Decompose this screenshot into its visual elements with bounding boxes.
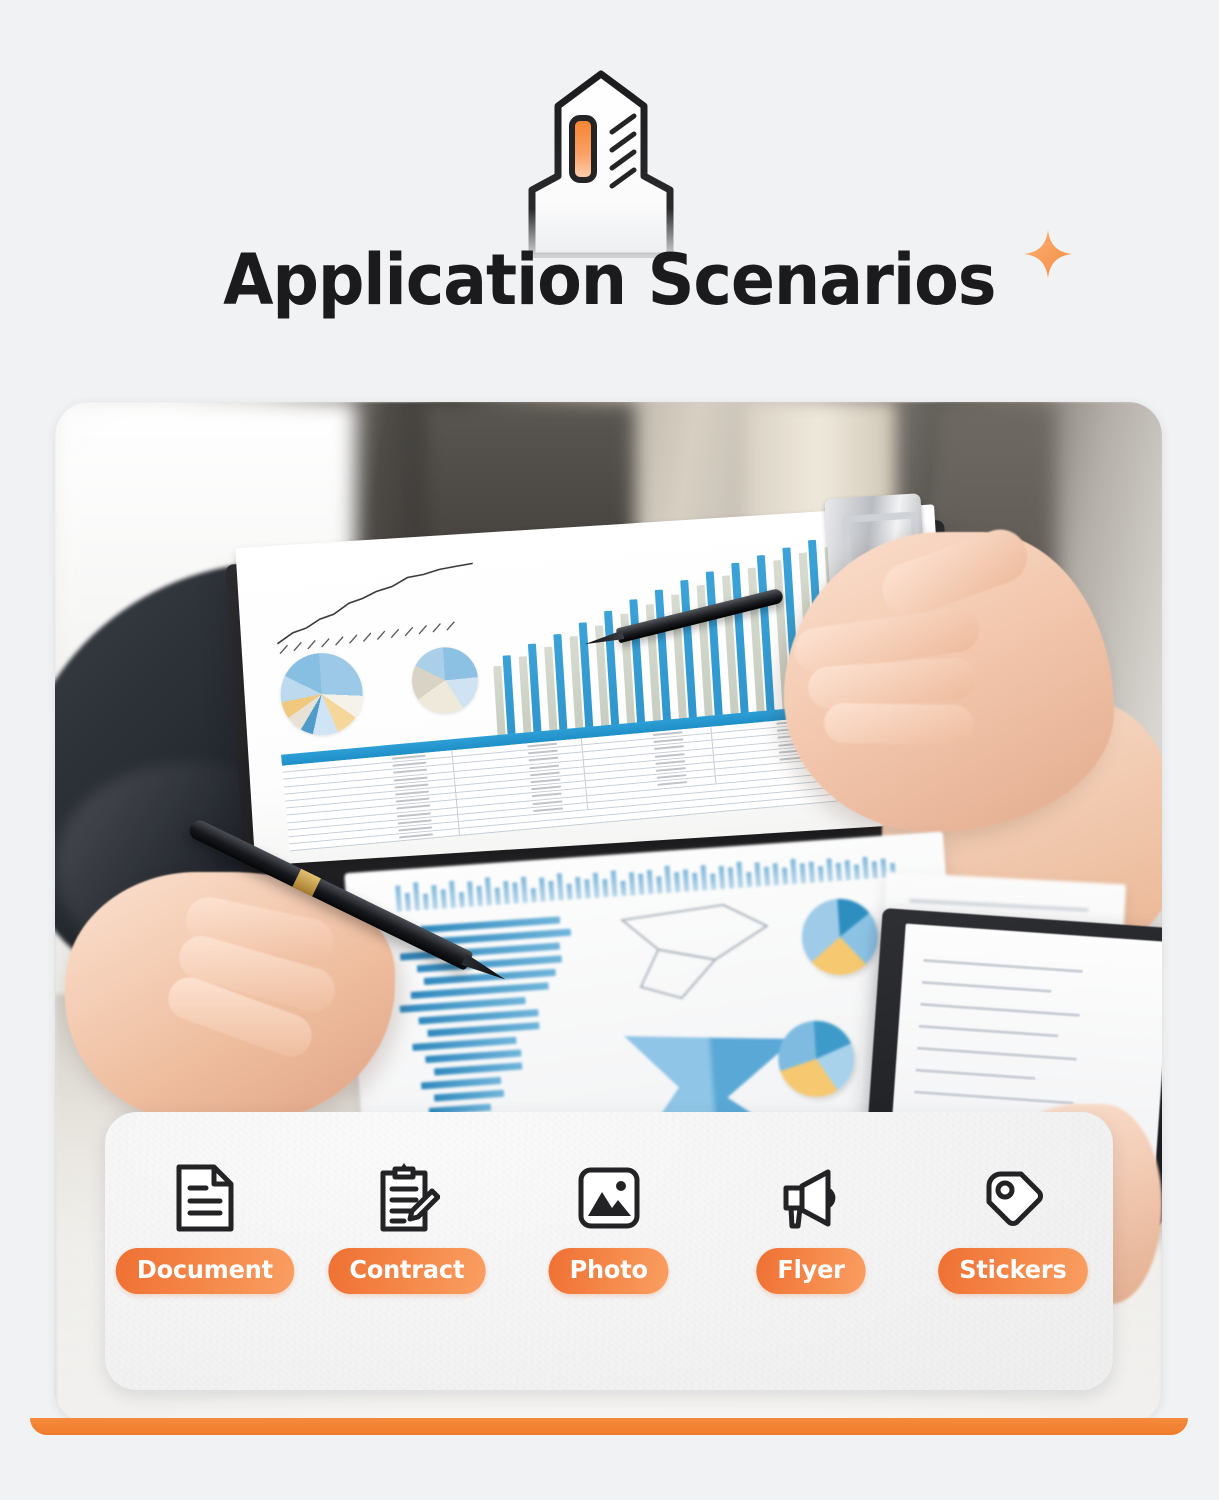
scenario-item-contract[interactable]: Contract <box>321 1160 493 1294</box>
header-section: Application Scenarios <box>0 0 1219 380</box>
megaphone-icon <box>774 1160 848 1236</box>
sheet-pie-chart-1 <box>278 651 365 738</box>
chip-label-flyer[interactable]: Flyer <box>756 1248 866 1294</box>
image-picture-icon <box>572 1160 646 1236</box>
price-tag-icon <box>976 1160 1050 1236</box>
sparkle-four-point-icon <box>1022 228 1074 280</box>
photo-accent-bar <box>30 1418 1188 1435</box>
scenarios-panel: Document <box>105 1112 1113 1390</box>
sheet-pie-chart-2 <box>410 645 480 715</box>
document-page-icon <box>168 1160 242 1236</box>
building-tower-icon <box>494 68 708 258</box>
scenario-item-stickers[interactable]: Stickers <box>927 1160 1099 1294</box>
application-scenarios-page: Application Scenarios <box>0 0 1219 1500</box>
hand-holding-pen <box>784 532 1114 832</box>
scenario-chip-list: Document <box>105 1160 1113 1294</box>
scenario-item-flyer[interactable]: Flyer <box>725 1160 897 1294</box>
chip-label-photo[interactable]: Photo <box>549 1248 669 1294</box>
chip-label-stickers[interactable]: Stickers <box>938 1248 1088 1294</box>
page-title: Application Scenarios <box>223 238 995 322</box>
sheet-line-chart <box>269 559 484 656</box>
scenario-item-photo[interactable]: Photo <box>523 1160 695 1294</box>
chip-label-contract[interactable]: Contract <box>328 1248 485 1294</box>
clipboard-pen-icon <box>370 1160 444 1236</box>
scenario-item-document[interactable]: Document <box>119 1160 291 1294</box>
chip-label-document[interactable]: Document <box>116 1248 294 1294</box>
